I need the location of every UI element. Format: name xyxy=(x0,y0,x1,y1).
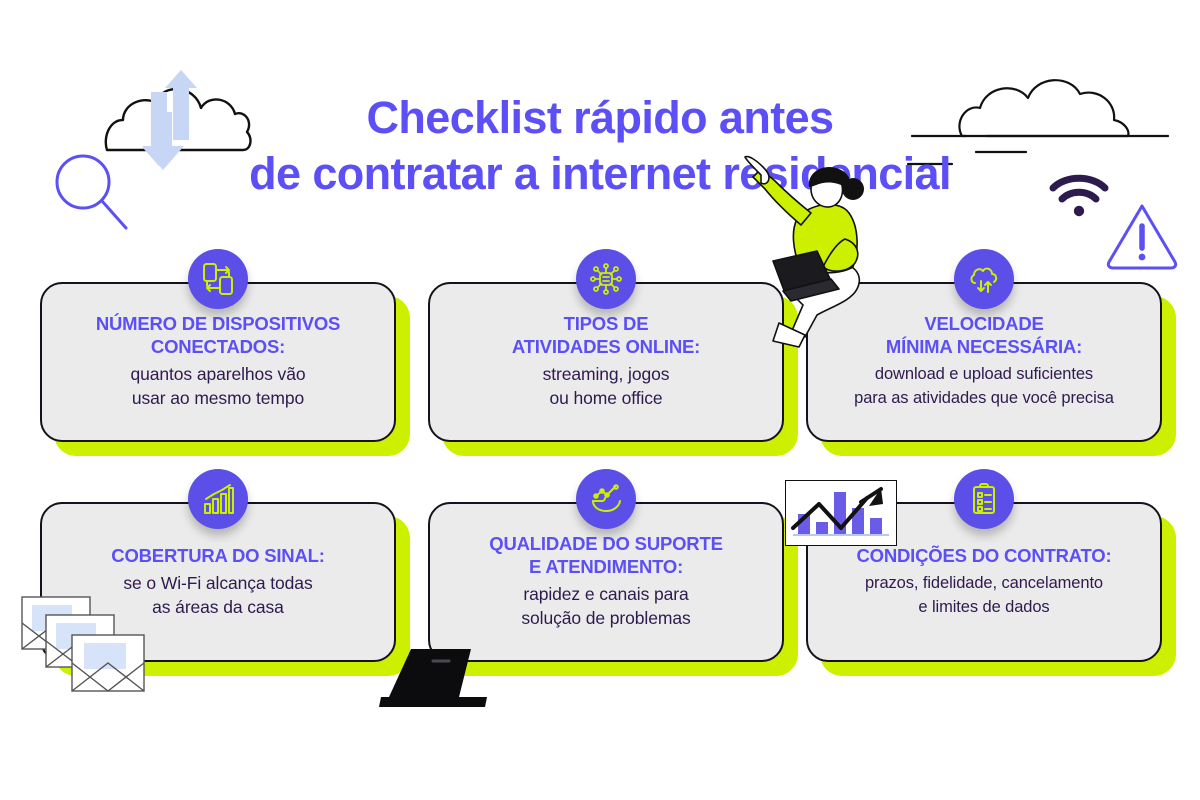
card-title: COBERTURA DO SINAL: xyxy=(111,544,324,567)
page-title: Checklist rápido antes de contratar a in… xyxy=(0,90,1200,202)
card-title: VELOCIDADE MÍNIMA NECESSÁRIA: xyxy=(886,312,1082,358)
magnifier-icon xyxy=(48,148,138,245)
card-title: NÚMERO DE DISPOSITIVOS CONECTADOS: xyxy=(96,312,340,358)
infographic-canvas: Checklist rápido antes de contratar a in… xyxy=(0,0,1200,800)
card-title: TIPOS DE ATIVIDADES ONLINE: xyxy=(512,312,700,358)
checklist-card-condicoes-do-contrato[interactable]: CONDIÇÕES DO CONTRATO: prazos, fidelidad… xyxy=(806,502,1162,662)
card-body: quantos aparelhos vão usar ao mesmo temp… xyxy=(131,362,306,410)
card-title: CONDIÇÕES DO CONTRATO: xyxy=(857,544,1112,567)
card-body: streaming, jogos ou home office xyxy=(543,362,670,410)
hand-growth-chart-icon xyxy=(576,469,636,529)
checklist-card-tipos-de-atividades-online[interactable]: TIPOS DE ATIVIDADES ONLINE: streaming, j… xyxy=(428,282,784,442)
checklist-card-qualidade-do-suporte-e-atendimento[interactable]: QUALIDADE DO SUPORTE E ATENDIMENTO: rapi… xyxy=(428,502,784,662)
warning-icon xyxy=(1104,200,1180,275)
checklist-card-cobertura-do-sinal[interactable]: COBERTURA DO SINAL: se o Wi-Fi alcança t… xyxy=(40,502,396,662)
card-body: se o Wi-Fi alcança todas as áreas da cas… xyxy=(123,571,312,619)
page-title-line-1: Checklist rápido antes xyxy=(0,90,1200,146)
card-title: QUALIDADE DO SUPORTE E ATENDIMENTO: xyxy=(489,532,722,578)
cloud-outline-icon xyxy=(900,60,1180,185)
cloud-speed-icon xyxy=(954,249,1014,309)
card-body: rapidez e canais para solução de problem… xyxy=(521,582,690,630)
cloud-upload-download-icon xyxy=(95,62,255,182)
signal-bars-icon xyxy=(188,469,248,529)
network-chip-icon xyxy=(576,249,636,309)
devices-transfer-icon xyxy=(188,249,248,309)
card-body: download e upload suficientes para as at… xyxy=(854,362,1114,410)
checklist-card-velocidade-minima-necessaria[interactable]: VELOCIDADE MÍNIMA NECESSÁRIA: download e… xyxy=(806,282,1162,442)
wifi-icon xyxy=(1048,172,1110,225)
card-body: prazos, fidelidade, cancelamento e limit… xyxy=(865,571,1103,619)
clipboard-checklist-icon xyxy=(954,469,1014,529)
checklist-card-numero-de-dispositivos-conectados[interactable]: NÚMERO DE DISPOSITIVOS CONECTADOS: quant… xyxy=(40,282,396,442)
page-title-line-2: de contratar a internet residencial xyxy=(0,146,1200,202)
